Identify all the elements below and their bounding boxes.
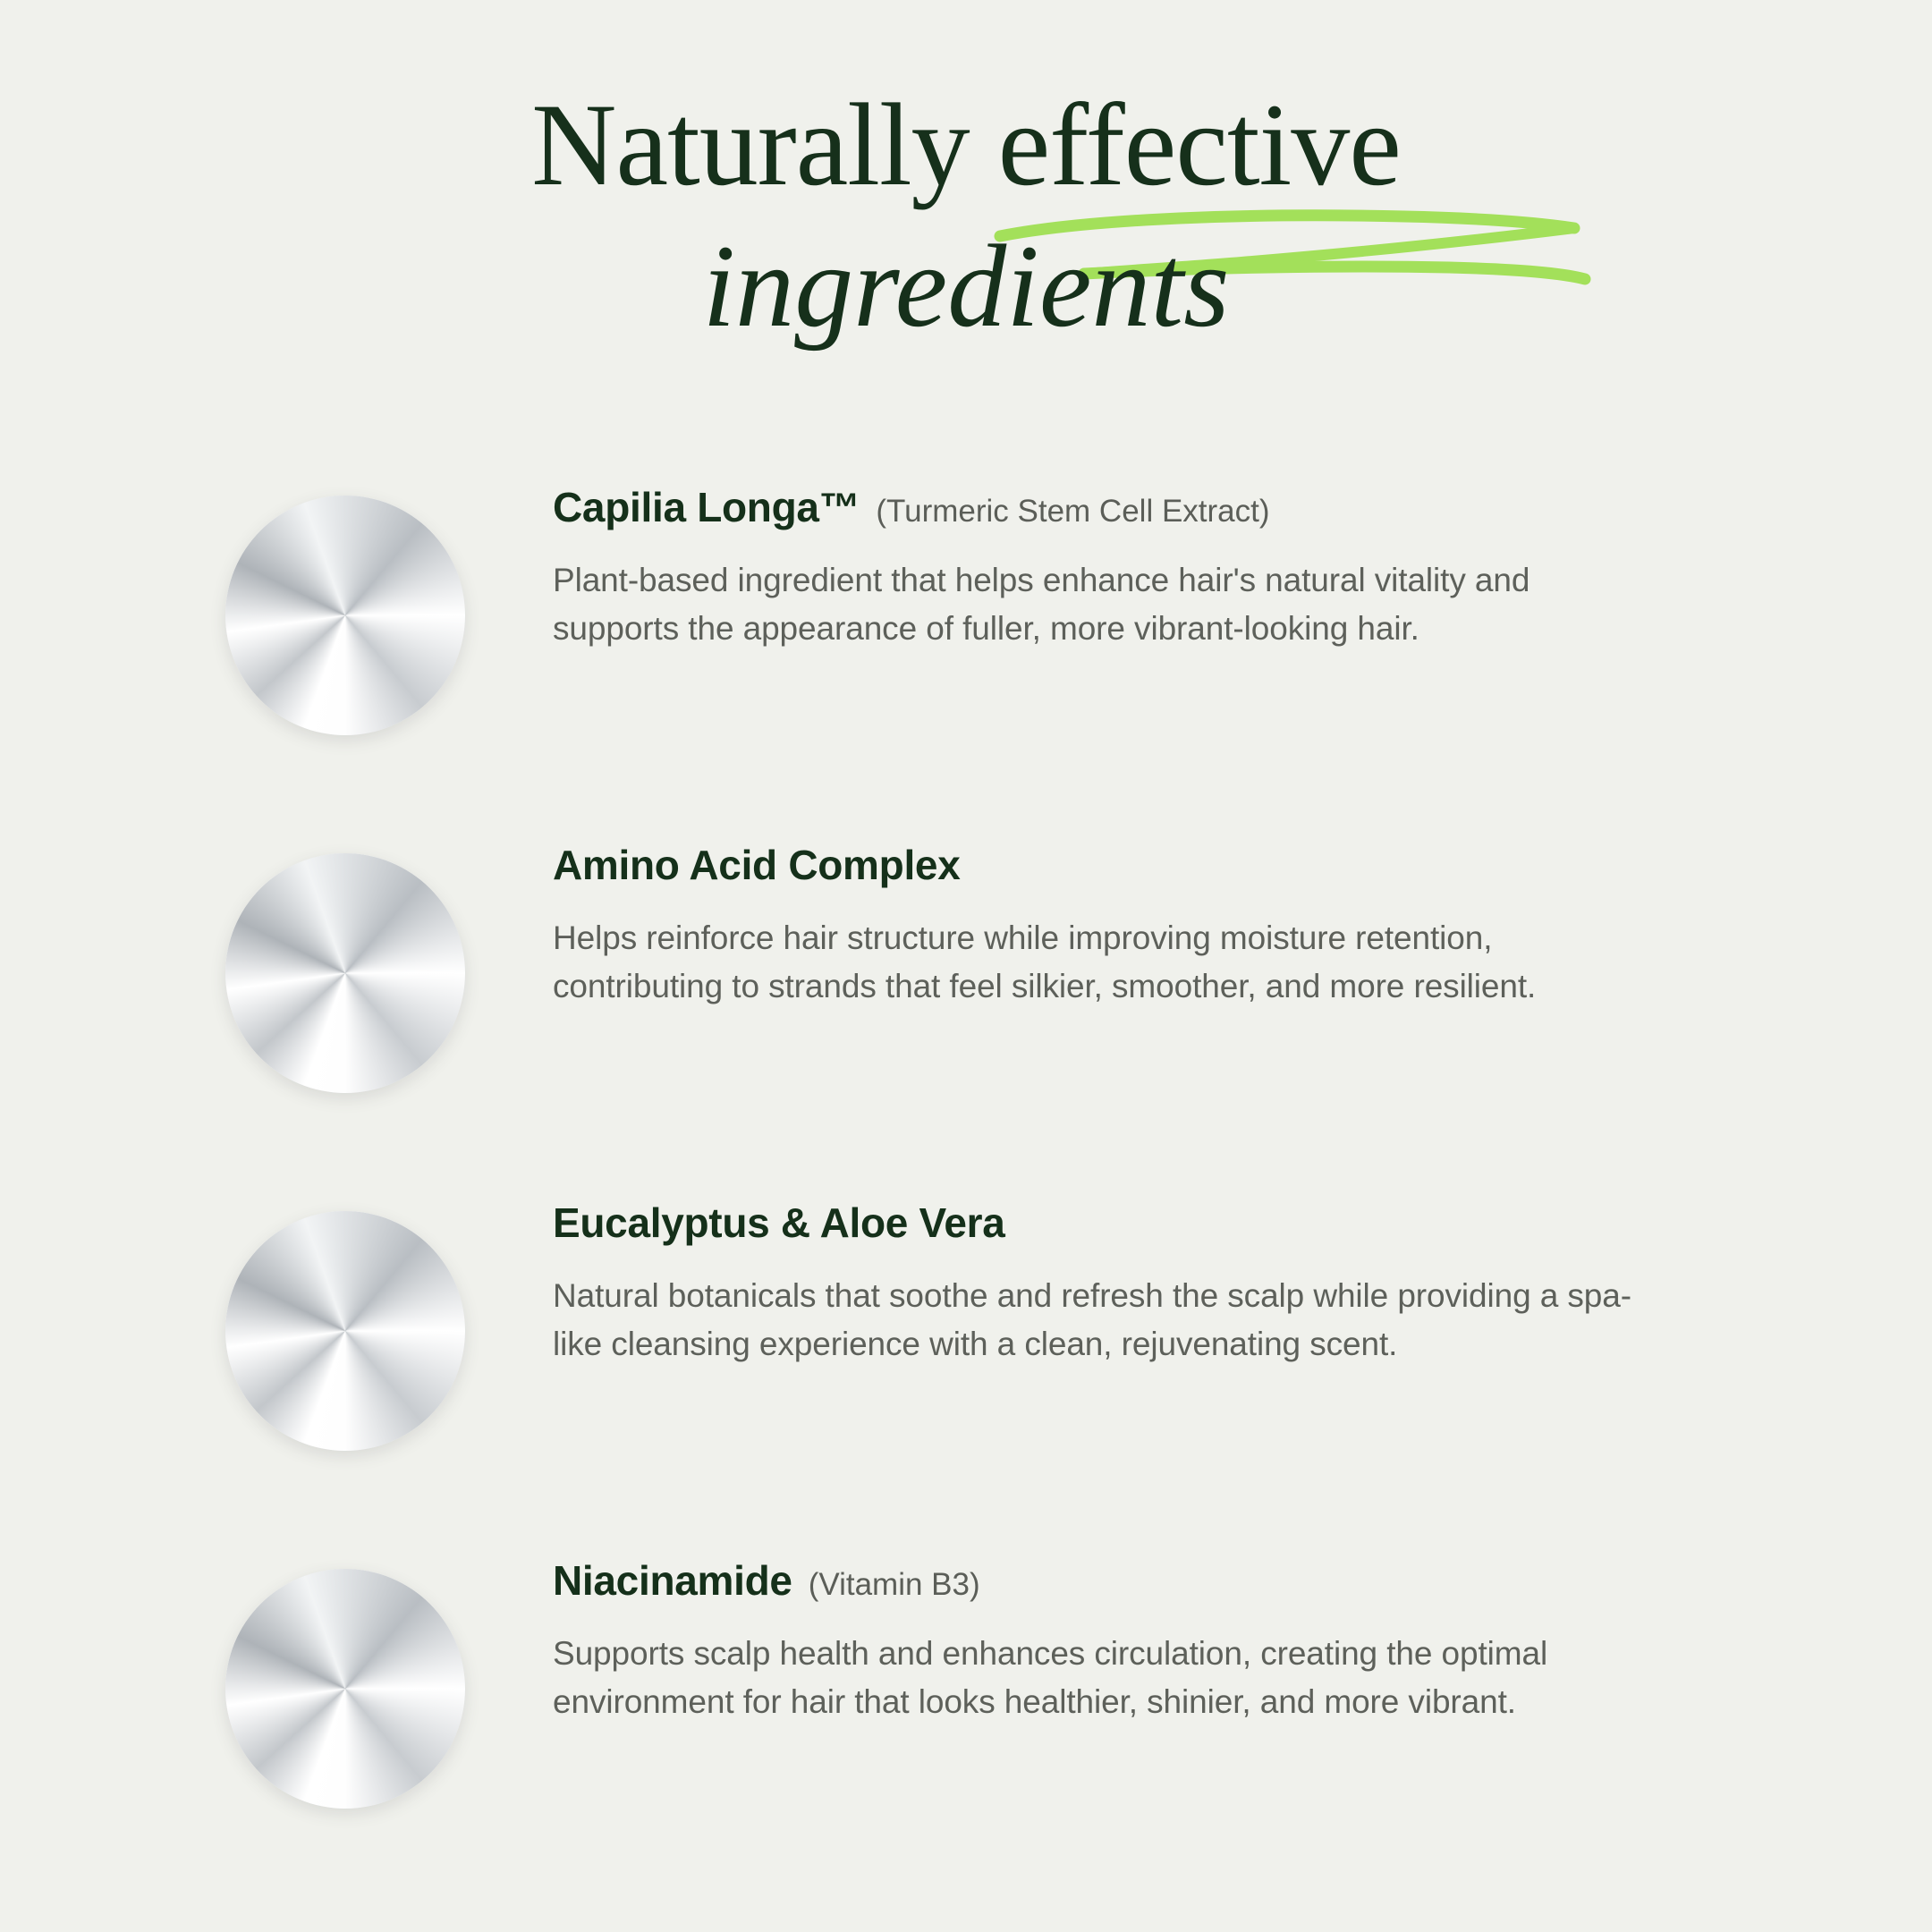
ingredient-name: Eucalyptus & Aloe Vera	[553, 1199, 1005, 1246]
ingredient-name: Amino Acid Complex	[553, 842, 961, 888]
ingredient-description: Helps reinforce hair structure while imp…	[553, 914, 1635, 1011]
ingredient-image-amino-acid-complex	[225, 841, 465, 1109]
list-item: Amino Acid Complex Helps reinforce hair …	[0, 841, 1932, 1199]
ingredient-title: Amino Acid Complex	[553, 843, 1932, 889]
list-item: Capilia Longa™(Turmeric Stem Cell Extrac…	[0, 483, 1932, 841]
ingredient-title: Capilia Longa™(Turmeric Stem Cell Extrac…	[553, 485, 1932, 531]
petri-dish-white-powder-icon	[225, 1569, 465, 1809]
petri-dish-aloe-vera-slices-icon	[225, 1211, 465, 1451]
ingredient-subtitle: (Turmeric Stem Cell Extract)	[876, 494, 1269, 529]
ingredient-name: Niacinamide	[553, 1557, 792, 1604]
ingredient-subtitle: (Vitamin B3)	[809, 1567, 980, 1602]
ingredient-image-eucalyptus-aloe-vera	[225, 1199, 465, 1467]
ingredient-image-capilia-longa	[225, 483, 465, 751]
ingredient-title: Niacinamide(Vitamin B3)	[553, 1558, 1932, 1605]
ingredient-text-capilia-longa: Capilia Longa™(Turmeric Stem Cell Extrac…	[465, 483, 1932, 653]
ingredient-list: Capilia Longa™(Turmeric Stem Cell Extrac…	[0, 483, 1932, 1914]
ingredient-image-niacinamide	[225, 1556, 465, 1825]
list-item: Eucalyptus & Aloe Vera Natural botanical…	[0, 1199, 1932, 1556]
petri-dish-blue-gel-icon	[225, 853, 465, 1093]
heading-line-1: Naturally effective	[0, 86, 1932, 204]
page-heading: Naturally effective ingredients	[0, 86, 1932, 345]
ingredient-description: Plant-based ingredient that helps enhanc…	[553, 556, 1635, 653]
ingredient-text-eucalyptus-aloe-vera: Eucalyptus & Aloe Vera Natural botanical…	[465, 1199, 1932, 1368]
petri-dish-turmeric-powder-and-root-icon	[225, 496, 465, 735]
ingredient-text-niacinamide: Niacinamide(Vitamin B3) Supports scalp h…	[465, 1556, 1932, 1726]
heading-line-2: ingredients	[0, 227, 1932, 345]
list-item: Niacinamide(Vitamin B3) Supports scalp h…	[0, 1556, 1932, 1914]
ingredient-text-amino-acid-complex: Amino Acid Complex Helps reinforce hair …	[465, 841, 1932, 1011]
ingredient-description: Natural botanicals that soothe and refre…	[553, 1272, 1635, 1368]
ingredient-name: Capilia Longa™	[553, 484, 860, 530]
ingredients-infographic: Naturally effective ingredients	[0, 0, 1932, 1932]
ingredient-title: Eucalyptus & Aloe Vera	[553, 1200, 1932, 1247]
ingredient-description: Supports scalp health and enhances circu…	[553, 1630, 1635, 1726]
